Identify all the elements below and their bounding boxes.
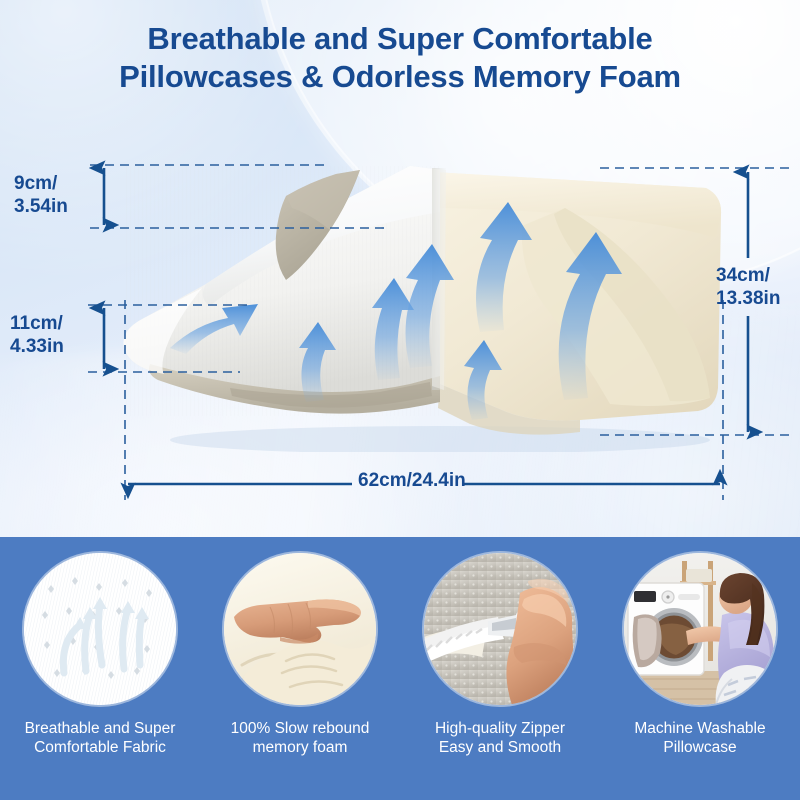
feature-caption-breathable-fabric: Breathable and Super Comfortable Fabric: [10, 719, 190, 757]
washing-machine-icon: [624, 553, 776, 705]
pillow-illustration: [110, 152, 730, 452]
breathable-fabric-icon: [24, 553, 176, 705]
feature-caption-line1: High-quality Zipper: [410, 719, 590, 738]
hand-pressing-foam-icon: [224, 553, 376, 705]
feature-caption-line2: memory foam: [210, 738, 390, 757]
headline-line-1: Breathable and Super Comfortable: [0, 20, 800, 58]
feature-band: Breathable and Super Comfortable Fabric: [0, 537, 800, 800]
feature-caption-zipper: High-quality Zipper Easy and Smooth: [410, 719, 590, 757]
headline: Breathable and Super Comfortable Pillowc…: [0, 20, 800, 96]
product-infographic: Breathable and Super Comfortable Pillowc…: [0, 0, 800, 800]
zipper-icon: [424, 553, 576, 705]
feature-item-zipper: High-quality Zipper Easy and Smooth: [400, 537, 600, 800]
feature-item-machine-washable: Machine Washable Pillowcase: [600, 537, 800, 800]
feature-caption-machine-washable: Machine Washable Pillowcase: [610, 719, 790, 757]
headline-line-2: Pillowcases & Odorless Memory Foam: [0, 58, 800, 96]
feature-caption-line1: 100% Slow rebound: [210, 719, 390, 738]
feature-caption-line1: Breathable and Super: [10, 719, 190, 738]
feature-caption-memory-foam: 100% Slow rebound memory foam: [210, 719, 390, 757]
feature-caption-line2: Comfortable Fabric: [10, 738, 190, 757]
feature-item-breathable-fabric: Breathable and Super Comfortable Fabric: [0, 537, 200, 800]
feature-caption-line2: Easy and Smooth: [410, 738, 590, 757]
feature-item-memory-foam: 100% Slow rebound memory foam: [200, 537, 400, 800]
feature-caption-line2: Pillowcase: [610, 738, 790, 757]
feature-caption-line1: Machine Washable: [610, 719, 790, 738]
